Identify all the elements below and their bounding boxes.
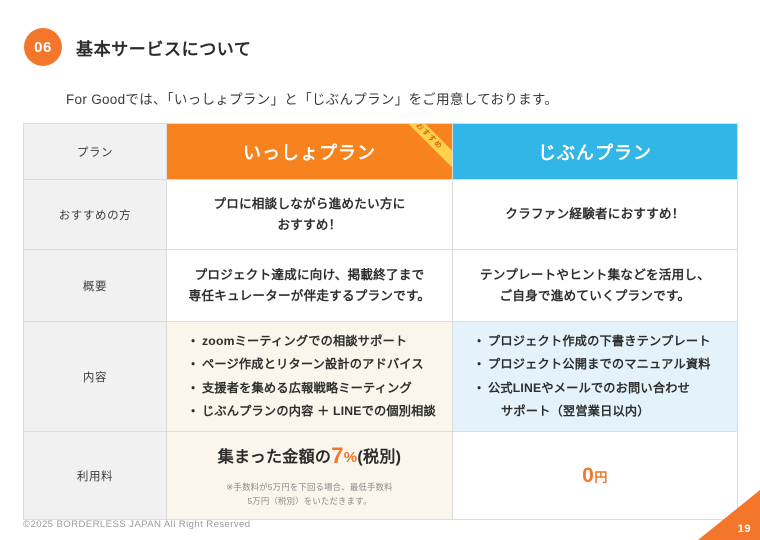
plan-a-title: いっしょプラン (243, 143, 376, 163)
lead-text: For Goodでは、「いっしょプラン」と「じぶんプラン」をご用意しております。 (66, 88, 558, 108)
cell-contents-plan-a: zoomミーティングでの相談サポート ページ作成とリターン設計のアドバイス 支援… (167, 322, 453, 432)
list-item: じぶんプランの内容 ＋ LINEでの個別相談 (189, 400, 452, 423)
list-item: 公式LINEやメールでのお問い合わせ (475, 377, 737, 400)
section-number-badge: 06 (24, 28, 62, 66)
column-header-plan-b: じぶんプラン (453, 124, 738, 180)
list-item: サポート（翌営業日以内） (475, 400, 737, 423)
list-item: 支援者を集める広報戦略ミーティング (189, 377, 452, 400)
table-row: おすすめの方 プロに相談しながら進めたい方に おすすめ！ クラファン経験者におす… (24, 180, 738, 250)
slide-root: 06 基本サービスについて For Goodでは、「いっしょプラン」と「じぶんプ… (0, 0, 760, 540)
table-header-row: プラン いっしょプラン おすすめ じぶんプラン (24, 124, 738, 180)
list-item: ページ作成とリターン設計のアドバイス (189, 353, 452, 376)
row-label-recommended-for: おすすめの方 (24, 180, 167, 250)
row-label-contents: 内容 (24, 322, 167, 432)
row-label-fee: 利用料 (24, 432, 167, 520)
list-item: zoomミーティングでの相談サポート (189, 330, 452, 353)
fee-zero-number: 0 (582, 464, 594, 487)
fee-percent-sign: % (344, 449, 358, 466)
fee-tax-note: (税別) (357, 449, 401, 466)
cell-recommended-for-plan-a: プロに相談しながら進めたい方に おすすめ！ (167, 180, 453, 250)
cell-overview-plan-b: テンプレートやヒント集などを活用し、 ご自身で進めていくプランです。 (453, 250, 738, 322)
recommended-ribbon-badge: おすすめ (394, 124, 452, 171)
column-header-plan-a: いっしょプラン おすすめ (167, 124, 453, 180)
table-row: 内容 zoomミーティングでの相談サポート ページ作成とリターン設計のアドバイス… (24, 322, 738, 432)
contents-list-plan-a: zoomミーティングでの相談サポート ページ作成とリターン設計のアドバイス 支援… (189, 330, 452, 424)
row-label-overview: 概要 (24, 250, 167, 322)
column-header-label: プラン (24, 124, 167, 180)
fee-headline-plan-a: 集まった金額の7%(税別) (167, 443, 452, 469)
cell-fee-plan-a: 集まった金額の7%(税別) ※手数料が5万円を下回る場合、最低手数料 5万円（税… (167, 432, 453, 520)
fee-yen-unit: 円 (594, 470, 608, 485)
slide-header: 06 基本サービスについて (24, 28, 252, 66)
table-row: 概要 プロジェクト達成に向け、掲載終了まで 専任キュレーターが伴走するプランです… (24, 250, 738, 322)
page-title: 基本サービスについて (76, 35, 252, 60)
list-item: プロジェクト公開までのマニュアル資料 (475, 353, 737, 376)
table-row: 利用料 集まった金額の7%(税別) ※手数料が5万円を下回る場合、最低手数料 5… (24, 432, 738, 520)
fee-zero-value: 0円 (582, 464, 608, 487)
plan-comparison-table: プラン いっしょプラン おすすめ じぶんプラン おすすめの方 プロに相談しながら… (23, 123, 738, 520)
fee-fine-print: ※手数料が5万円を下回る場合、最低手数料 5万円（税別）をいただきます。 (167, 481, 452, 509)
fee-percentage-value: 7 (331, 443, 344, 468)
cell-contents-plan-b: プロジェクト作成の下書きテンプレート プロジェクト公開までのマニュアル資料 公式… (453, 322, 738, 432)
page-number: 19 (738, 523, 751, 535)
cell-overview-plan-a: プロジェクト達成に向け、掲載終了まで 専任キュレーターが伴走するプランです。 (167, 250, 453, 322)
fee-prefix: 集まった金額の (218, 449, 331, 466)
list-item: プロジェクト作成の下書きテンプレート (475, 330, 737, 353)
cell-recommended-for-plan-b: クラファン経験者におすすめ！ (453, 180, 738, 250)
contents-list-plan-b: プロジェクト作成の下書きテンプレート プロジェクト公開までのマニュアル資料 公式… (475, 330, 737, 424)
cell-fee-plan-b: 0円 (453, 432, 738, 520)
footer-copyright: ©2025 BORDERLESS JAPAN All Right Reserve… (23, 519, 251, 530)
